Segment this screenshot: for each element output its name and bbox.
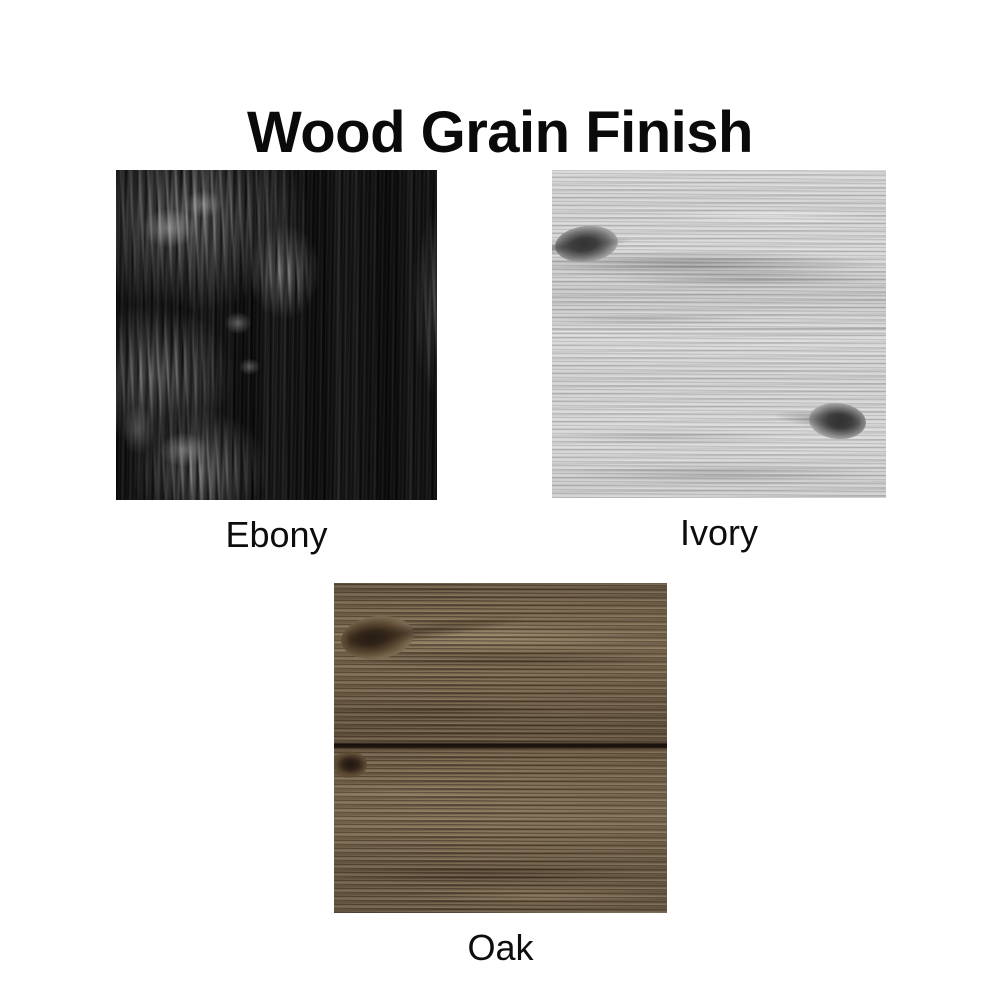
oak-vignette [334, 583, 667, 913]
ebony-wood-grain-swatch[interactable] [116, 170, 437, 500]
ebony-vignette [116, 170, 437, 500]
swatch-option-ebony[interactable]: Ebony [116, 170, 437, 500]
oak-wood-grain-swatch[interactable] [334, 583, 667, 913]
swatch-label-ebony: Ebony [225, 515, 327, 555]
swatch-option-oak[interactable]: Oak [334, 583, 667, 913]
ivory-plank-seam [552, 170, 886, 498]
swatch-label-ivory: Ivory [680, 513, 758, 553]
swatch-label-oak: Oak [467, 928, 533, 968]
ivory-wood-grain-swatch[interactable] [552, 170, 886, 498]
page-title: Wood Grain Finish [0, 101, 1000, 165]
swatch-option-ivory[interactable]: Ivory [552, 170, 886, 498]
